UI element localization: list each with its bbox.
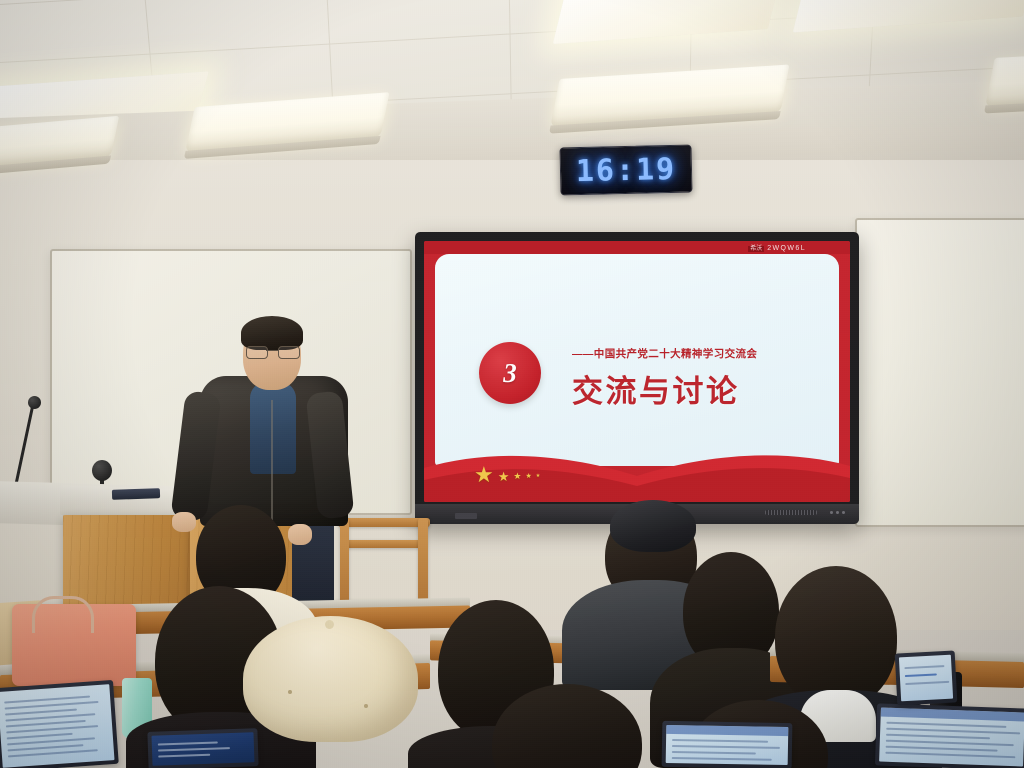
slide-number-text: 3 [503,358,517,389]
presenter-right-hand [288,524,312,545]
slide-title: 交流与讨论 [572,366,740,411]
slide-footer-banner: ★ ★ ★ ★ ★ [424,446,850,502]
slide-top-bar: 希沃2WQW6L [424,241,850,254]
interactive-flat-panel[interactable]: 希沃2WQW6L 3 ——中国共产党二十大精神学习交流会 交流与讨论 ★ ★ [415,232,859,524]
laptop-right-ribbon [881,708,1024,722]
student-5-cream-cap [243,616,418,742]
laptop-left[interactable] [0,680,119,768]
tablet-right-screen [899,655,953,702]
slide-subtitle: ——中国共产党二十大精神学习交流会 [572,346,757,361]
display-logo-icon [455,513,477,519]
star-icon-1: ★ [474,464,494,486]
laptop-center[interactable] [147,728,258,768]
laptop-mid-center-ribbon [666,725,788,736]
lectern-laptop-closed[interactable] [112,488,160,500]
student-2-black-cap [610,500,696,552]
display-brand-tag: 希沃 [748,246,764,252]
laptop-right[interactable] [875,703,1024,768]
star-icon-5: ★ [536,474,540,479]
slide-number-badge: 3 [479,342,541,404]
wall-digital-clock: 16:19 [559,145,692,196]
presentation-slide: 希沃2WQW6L 3 ——中国共产党二十大精神学习交流会 交流与讨论 ★ ★ [424,241,850,502]
classroom-scene: 16:19 希沃2WQW6L 3 ——中国共产党二十大精神学习交流会 交流与讨论 [0,0,1024,768]
star-icon-2: ★ [498,470,510,483]
display-code-text: 2WQW6L [767,245,806,252]
slide-canvas: 3 ——中国共产党二十大精神学习交流会 交流与讨论 [435,254,839,466]
presenter-shirt [250,382,296,474]
microphone-head-left-icon [28,396,41,409]
display-indicator-dots-icon [830,511,845,514]
display-speaker-grille-icon [765,510,817,515]
clock-time-display: 16:19 [575,151,676,188]
student-5-cap-button-icon [325,620,334,629]
wall-light-1 [0,116,119,169]
student-6-head [775,566,897,708]
presenter-hair [241,316,303,350]
presenter-jacket-zipper [271,400,273,520]
laptop-right-lid [875,703,1024,768]
student-5-cap-eyelet-2 [364,704,368,708]
microphone-head-podium-icon [92,460,112,481]
gold-stars-decoration: ★ ★ ★ ★ ★ [474,464,540,486]
laptop-right-screen [879,708,1024,767]
presenter-eyeglasses-icon [246,346,298,358]
laptop-left-lid [0,680,119,768]
whiteboard-right [855,218,1024,527]
laptop-left-screen [0,684,115,768]
tablet-right-lid [895,650,958,705]
chair-back-top [338,518,430,527]
presenter-left-hand [172,512,196,532]
chair-back-slat [342,540,426,548]
laptop-mid-center-lid [662,721,793,768]
laptop-center-screen [152,732,255,766]
star-icon-4: ★ [525,473,531,480]
tablet-right[interactable] [895,650,958,705]
star-icon-3: ★ [513,472,521,481]
laptop-mid-center-screen [666,725,789,765]
display-corner-code: 希沃2WQW6L [748,243,806,252]
pink-tote-bag-handle [32,596,94,633]
student-5-cap-eyelet-1 [288,690,292,694]
laptop-center-lid [147,728,258,768]
laptop-mid-center[interactable] [662,721,793,768]
